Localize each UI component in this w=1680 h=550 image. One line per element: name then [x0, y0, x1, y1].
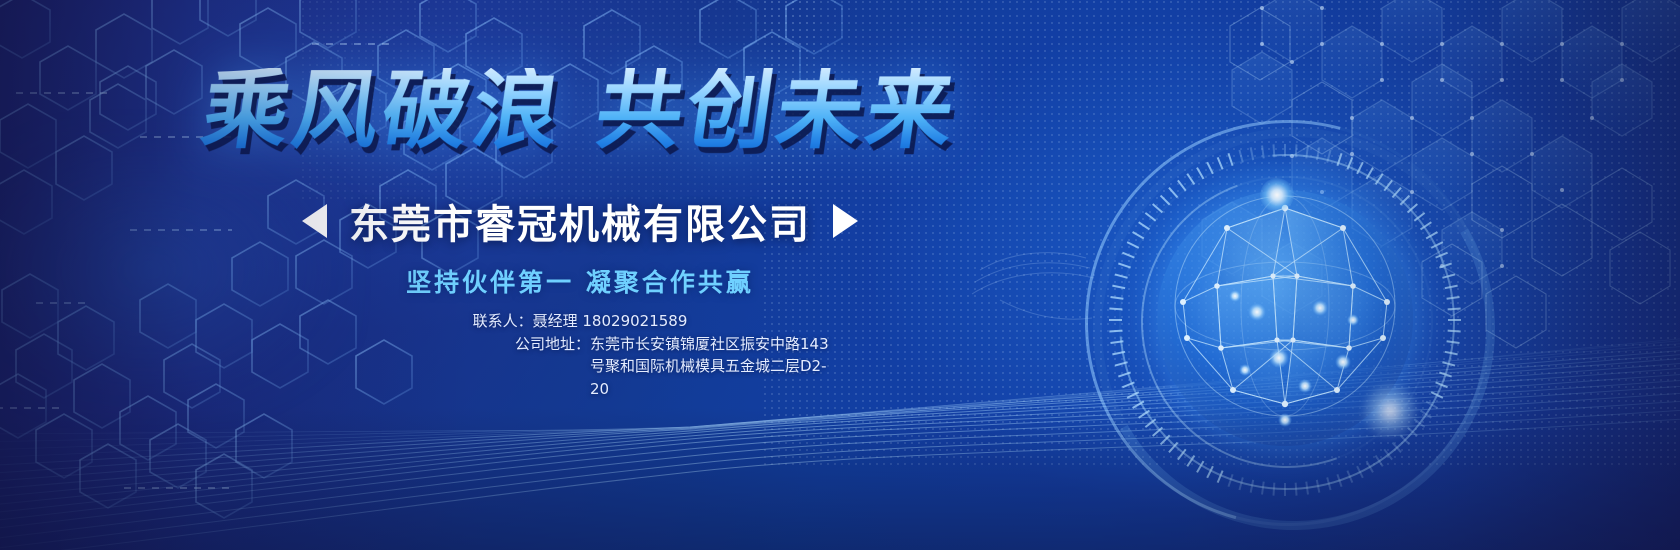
address-label: 公司地址： — [325, 333, 590, 356]
headline-container: 乘风破浪 共创未来 — [0, 68, 1160, 154]
contact-block: 联系人：聂经理 18029021589 公司地址： 东莞市长安镇锦厦社区振安中路… — [0, 310, 1160, 400]
page-title: 乘风破浪 共创未来 — [197, 68, 963, 154]
company-name: 东莞市睿冠机械有限公司 — [349, 192, 811, 250]
promo-banner: 乘风破浪 共创未来 东莞市睿冠机械有限公司 坚持伙伴第一 凝聚合作共赢 联系人：… — [0, 0, 1680, 550]
company-name-row: 东莞市睿冠机械有限公司 — [0, 192, 1160, 250]
address-value: 东莞市长安镇锦厦社区振安中路143号聚和国际机械模具五金城二层D2-20 — [590, 333, 835, 401]
slogan: 坚持伙伴第一 凝聚合作共赢 — [0, 263, 1160, 299]
address-line: 公司地址： 东莞市长安镇锦厦社区振安中路143号聚和国际机械模具五金城二层D2-… — [0, 333, 1160, 401]
triangle-right-icon — [833, 204, 858, 238]
triangle-left-icon — [302, 204, 327, 238]
contact-person-line: 联系人：聂经理 18029021589 — [0, 310, 1160, 333]
